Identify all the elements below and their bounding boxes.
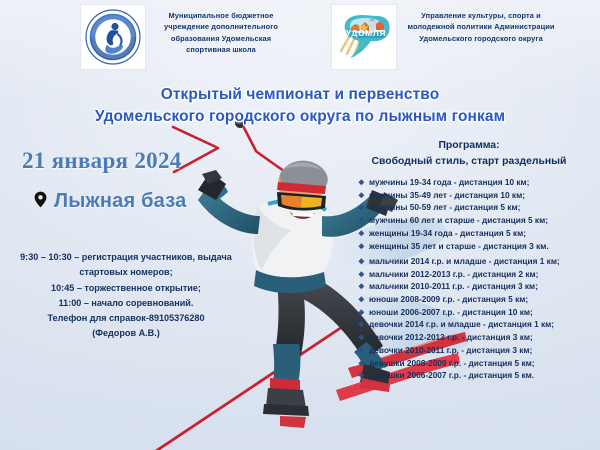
diamond-bullet-icon: ❖	[358, 230, 369, 237]
svg-text:УДОМЛЯ: УДОМЛЯ	[346, 28, 386, 38]
location-pin-icon	[34, 191, 47, 213]
diamond-bullet-icon: ❖	[358, 334, 369, 341]
program-item-label: девушки 2008-2009 г.р. - дистанция 5 км;	[369, 359, 535, 367]
diamond-bullet-icon: ❖	[358, 283, 369, 290]
program-item-label: юноши 2008-2009 г.р. - дистанция 5 км;	[369, 295, 528, 303]
event-location: Лыжная база	[34, 190, 186, 213]
program-item: ❖девушки 2008-2009 г.р. - дистанция 5 км…	[358, 359, 600, 367]
event-date: 21 января 2024	[22, 148, 182, 174]
diamond-bullet-icon: ❖	[358, 192, 369, 199]
program-item: ❖юноши 2006-2007 г.р. - дистанция 10 км;	[358, 308, 600, 316]
diamond-bullet-icon: ❖	[358, 204, 369, 211]
program-item-label: мальчики 2010-2011 г.р. - дистанция 3 км…	[369, 282, 538, 290]
poster-title: Открытый чемпионат и первенство Удомельс…	[0, 84, 600, 128]
program-item-label: мальчики 2014 г.р. и младше - дистанция …	[369, 257, 560, 265]
diamond-bullet-icon: ❖	[358, 217, 369, 224]
program-heading: Программа: Свободный стиль, старт раздел…	[338, 138, 600, 169]
program-item: ❖мальчики 2010-2011 г.р. - дистанция 3 к…	[358, 282, 600, 290]
diamond-bullet-icon: ❖	[358, 271, 369, 278]
schedule-line: стартовых номеров;	[6, 265, 246, 280]
poster-header: Муниципальное бюджетное учреждение допол…	[0, 4, 600, 78]
program-item-label: мальчики 2012-2013 г.р. - дистанция 2 км…	[369, 270, 538, 278]
program-item: ❖мужчины 60 лет и старше - дистанция 5 к…	[358, 216, 600, 224]
program-item-label: девушки 2006-2007 г.р. - дистанция 5 км.	[369, 371, 534, 379]
contact-info: Телефон для справок-89105376280 (Федоров…	[6, 311, 246, 342]
program-item-label: девочки 2012-2013 г.р. - дистанция 3 км;	[369, 333, 533, 341]
contact-person: (Федоров А.В.)	[6, 326, 246, 341]
diamond-bullet-icon: ❖	[358, 179, 369, 186]
udomlya-town-logo-icon: УДОМЛЯ	[331, 4, 397, 70]
program-item: ❖девочки 2012-2013 г.р. - дистанция 3 км…	[358, 333, 600, 341]
program-item: ❖девочки 2014 г.р. и младше - дистанция …	[358, 320, 600, 328]
diamond-bullet-icon: ❖	[358, 372, 369, 379]
program-item: ❖женщины 35 лет и старше - дистанция 3 к…	[358, 242, 600, 250]
diamond-bullet-icon: ❖	[358, 309, 369, 316]
program-style: Свободный стиль, старт раздельный	[338, 154, 600, 170]
schedule-line: 11:00 – начало соревнований.	[6, 296, 246, 311]
poster-title-line-1: Открытый чемпионат и первенство	[0, 84, 600, 106]
program-item-label: девочки 2014 г.р. и младше - дистанция 1…	[369, 320, 554, 328]
program-item: ❖девушки 2006-2007 г.р. - дистанция 5 км…	[358, 371, 600, 379]
sport-school-emblem-icon	[80, 4, 146, 70]
schedule-line: 10:45 – торжественное открытие;	[6, 281, 246, 296]
program-item: ❖мужчины 50-59 лет - дистанция 5 км;	[358, 203, 600, 211]
poster-title-line-2: Удомельского городского округа по лыжным…	[0, 106, 600, 128]
program-item-label: мужчины 35-49 лет - дистанция 10 км;	[369, 191, 525, 199]
program-item: ❖юноши 2008-2009 г.р. - дистанция 5 км;	[358, 295, 600, 303]
program-item: ❖мужчины 35-49 лет - дистанция 10 км;	[358, 191, 600, 199]
program-item: ❖мужчины 19-34 года - дистанция 10 км;	[358, 178, 600, 186]
program-list: ❖мужчины 19-34 года - дистанция 10 км; ❖…	[358, 178, 600, 384]
program-item-label: девочки 2010-2011 г.р. - дистанция 3 км;	[369, 346, 532, 354]
diamond-bullet-icon: ❖	[358, 360, 369, 367]
program-group-adults: ❖мужчины 19-34 года - дистанция 10 км; ❖…	[358, 178, 600, 250]
ski-championship-poster: Муниципальное бюджетное учреждение допол…	[0, 0, 600, 450]
program-group-youth: ❖мальчики 2014 г.р. и младше - дистанция…	[358, 257, 600, 380]
program-item-label: женщины 35 лет и старше - дистанция 3 км…	[369, 242, 549, 250]
diamond-bullet-icon: ❖	[358, 243, 369, 250]
diamond-bullet-icon: ❖	[358, 321, 369, 328]
administration-name: Управление культуры, спорта и молодежной…	[405, 10, 557, 44]
contact-phone: Телефон для справок-89105376280	[6, 311, 246, 326]
program-item: ❖женщины 19-34 года - дистанция 5 км;	[358, 229, 600, 237]
program-item-label: мужчины 50-59 лет - дистанция 5 км;	[369, 203, 520, 211]
program-item-label: мужчины 19-34 года - дистанция 10 км;	[369, 178, 529, 186]
program-item: ❖девочки 2010-2011 г.р. - дистанция 3 км…	[358, 346, 600, 354]
program-item: ❖мальчики 2014 г.р. и младше - дистанция…	[358, 257, 600, 265]
diamond-bullet-icon: ❖	[358, 347, 369, 354]
program-item-label: женщины 19-34 года - дистанция 5 км;	[369, 229, 526, 237]
event-schedule: 9:30 – 10:30 – регистрация участников, в…	[6, 250, 246, 311]
program-item: ❖мальчики 2012-2013 г.р. - дистанция 2 к…	[358, 270, 600, 278]
diamond-bullet-icon: ❖	[358, 258, 369, 265]
diamond-bullet-icon: ❖	[358, 296, 369, 303]
sport-school-name: Муниципальное бюджетное учреждение допол…	[154, 10, 288, 56]
organization-administration: УДОМЛЯ Управление культуры, спорта и мол…	[331, 4, 557, 70]
organization-sport-school: Муниципальное бюджетное учреждение допол…	[80, 4, 288, 70]
program-item-label: мужчины 60 лет и старше - дистанция 5 км…	[369, 216, 548, 224]
program-item-label: юноши 2006-2007 г.р. - дистанция 10 км;	[369, 308, 533, 316]
schedule-line: 9:30 – 10:30 – регистрация участников, в…	[6, 250, 246, 265]
event-location-label: Лыжная база	[54, 190, 186, 213]
program-title: Программа:	[338, 138, 600, 154]
